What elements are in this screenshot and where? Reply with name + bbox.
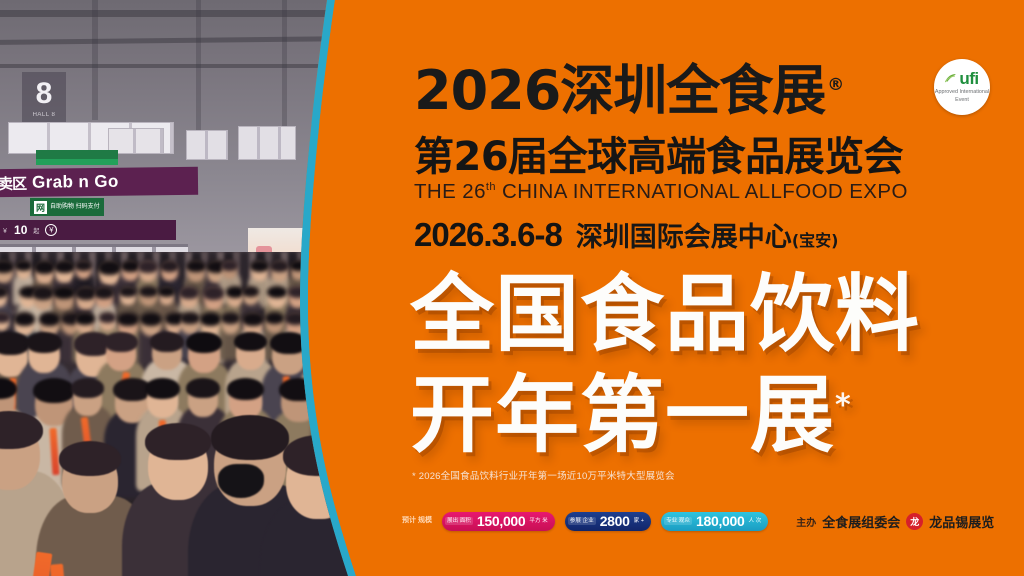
asterisk-marker: * bbox=[835, 388, 852, 423]
grab-n-go-banner: 卖区 Grab n Go bbox=[0, 167, 198, 198]
light-panel bbox=[186, 130, 228, 160]
stat-tag: 展出 面积 bbox=[445, 517, 473, 526]
date-venue-bar: 2026.3.6-8 深圳国际会展中心(宝安) bbox=[414, 215, 838, 254]
exhibition-photo: 8 HALL 8 卖区 Grab n Go 网 自助购物 扫码支付 ￥ 10 起… bbox=[0, 0, 352, 576]
ufi-approved-icon: ufi Approved International Event bbox=[934, 59, 990, 115]
stat-value: 150,000 bbox=[477, 513, 526, 529]
price-prefix: ￥ bbox=[2, 226, 8, 235]
self-service-badge: 网 自助购物 扫码支付 bbox=[30, 198, 104, 216]
headline-line-2: 开年第一展* bbox=[410, 360, 1010, 461]
stat-unit: 人 次 bbox=[749, 518, 762, 525]
ufi-swoosh-icon bbox=[945, 73, 957, 84]
page-title: 2026深圳全食展® bbox=[414, 56, 1014, 120]
badge-text: 自助购物 扫码支付 bbox=[50, 204, 100, 211]
english-ordinal: th bbox=[486, 181, 496, 193]
stat-pill-exhibitors: 参展 企业 2800 家 + bbox=[565, 512, 651, 531]
stat-unit: 平方 米 bbox=[529, 518, 547, 525]
green-strip bbox=[36, 159, 118, 165]
hall-column bbox=[196, 0, 201, 150]
price-value: 10 bbox=[14, 223, 27, 237]
stat-pill-visitors: 专业 观众 180,000 人 次 bbox=[661, 512, 768, 531]
poster-content: 2026深圳全食展® ufi Approved International Ev… bbox=[352, 0, 1024, 576]
stats-lead-label: 预计 规模 bbox=[402, 517, 432, 526]
headline-block: 全国食品饮料 开年第一展* bbox=[410, 268, 1010, 461]
english-prefix: THE 26 bbox=[414, 180, 486, 203]
venue-name: 深圳国际会展中心 bbox=[576, 222, 792, 253]
stat-tag: 专业 观众 bbox=[664, 517, 692, 526]
currency-icon: ￥ bbox=[45, 224, 57, 236]
expo-poster: 8 HALL 8 卖区 Grab n Go 网 自助购物 扫码支付 ￥ 10 起… bbox=[0, 0, 1024, 576]
headline-footnote: * 2026全国食品饮料行业开年第一场近10万平米特大型展览会 bbox=[412, 468, 675, 482]
title-row: 2026深圳全食展® ufi Approved International Ev… bbox=[414, 56, 1014, 118]
organizer-logo-icon: 龙 bbox=[906, 513, 923, 530]
hall-number: 8 bbox=[36, 79, 53, 109]
stat-tag: 参展 企业 bbox=[568, 517, 596, 526]
venue-district: (宝安) bbox=[792, 231, 839, 250]
ceiling-beam bbox=[0, 64, 352, 68]
stat-pill-area: 展出 面积 150,000 平方 米 bbox=[442, 512, 555, 531]
hall-number-sub: HALL 8 bbox=[33, 112, 56, 118]
ufi-logo-top: ufi bbox=[945, 70, 978, 87]
stats-bar: 预计 规模 展出 面积 150,000 平方 米 参展 企业 2800 家 + … bbox=[402, 506, 1012, 536]
hall-number-sign: 8 HALL 8 bbox=[22, 72, 66, 124]
title-main-text: 2026深圳全食展 bbox=[414, 59, 825, 122]
stat-unit: 家 + bbox=[634, 518, 644, 525]
crowd-of-visitors bbox=[0, 252, 352, 576]
subtitle-english: THE 26th CHINA INTERNATIONAL ALLFOOD EXP… bbox=[414, 180, 908, 204]
stat-value: 2800 bbox=[600, 513, 630, 529]
price-bar: ￥ 10 起 ￥ bbox=[0, 220, 176, 240]
headline-line-1: 全国食品饮料 bbox=[410, 268, 1010, 360]
ufi-subtitle: Approved International Event bbox=[934, 89, 990, 104]
badge-square-glyph: 网 bbox=[34, 201, 47, 214]
headline-line-2-text: 开年第一展 bbox=[410, 366, 835, 464]
price-suffix: 起 bbox=[33, 226, 39, 235]
banner-chinese-text: 卖区 bbox=[0, 172, 26, 193]
ceiling-beam bbox=[0, 10, 352, 17]
english-rest: CHINA INTERNATIONAL ALLFOOD EXPO bbox=[496, 180, 908, 203]
stat-value: 180,000 bbox=[696, 513, 745, 529]
subtitle-chinese: 第26届全球高端食品展览会 bbox=[414, 135, 903, 179]
registered-trademark-icon: ® bbox=[827, 75, 843, 95]
ufi-wordmark: ufi bbox=[959, 70, 978, 87]
hall-column bbox=[92, 0, 98, 120]
organizer-label: 主办 bbox=[796, 514, 816, 529]
banner-english-text: Grab n Go bbox=[32, 172, 119, 193]
event-date: 2026.3.6-8 bbox=[414, 216, 562, 254]
light-panel bbox=[238, 126, 296, 160]
organizer-name-secondary: 龙品锡展览 bbox=[929, 512, 994, 531]
event-venue: 深圳国际会展中心(宝安) bbox=[576, 215, 839, 254]
organizer-block: 主办 全食展组委会 龙 龙品锡展览 bbox=[796, 512, 994, 531]
organizer-name: 全食展组委会 bbox=[822, 512, 900, 531]
